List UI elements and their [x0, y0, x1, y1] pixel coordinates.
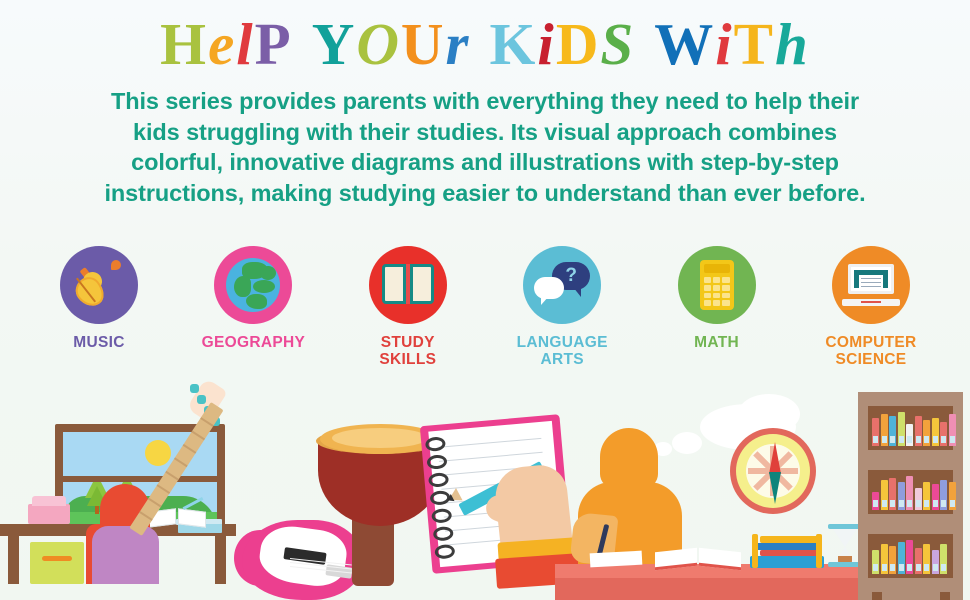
geography-circle [214, 246, 292, 324]
student-body [92, 526, 159, 584]
stacked-book [756, 543, 820, 550]
open-book-icon [382, 264, 434, 306]
calculator-icon [700, 260, 734, 310]
drawer-cabinet [30, 542, 84, 584]
pink-box [28, 504, 70, 524]
title-letter: W [654, 12, 715, 76]
compass-needle-south [769, 472, 781, 504]
title-letter: K [490, 12, 538, 76]
thought-bubble-medium [672, 432, 702, 454]
bookshelf-icon [858, 392, 963, 600]
subject-label-study-skills: STUDYSKILLS [379, 334, 436, 368]
subject-label-geography: GEOGRAPHY [202, 334, 305, 351]
subject-item-geography[interactable]: GEOGRAPHY [178, 246, 328, 351]
subject-item-music[interactable]: MUSIC [24, 246, 174, 351]
music-circle [60, 246, 138, 324]
title-letter: O [356, 12, 401, 76]
stacked-book-spine [816, 534, 822, 568]
stacked-book-spine [752, 534, 758, 568]
title-letter: D [556, 12, 601, 76]
math-circle [678, 246, 756, 324]
laptop-icon [842, 264, 900, 306]
subject-item-computer-science[interactable]: COMPUTERSCIENCE [796, 246, 946, 368]
shelf-books-row [872, 476, 956, 510]
stacked-book [750, 556, 824, 568]
hourglass-base [828, 562, 862, 567]
title-letter: i [715, 12, 733, 76]
title-letter: U [401, 12, 446, 76]
page-title: HelPYOUrKiDSWiTh [0, 12, 970, 76]
subject-label-language-arts: LANGUAGEARTS [517, 334, 608, 368]
violin-icon [73, 259, 125, 311]
reader-head [600, 428, 658, 488]
title-letter: P [255, 12, 293, 76]
description-paragraph: This series provides parents with everyt… [85, 86, 885, 208]
open-book-on-right-desk [655, 550, 741, 568]
computer-science-circle [832, 246, 910, 324]
language-arts-circle: ? [523, 246, 601, 324]
bookshelf-leg [940, 592, 950, 600]
subject-label-math: MATH [694, 334, 739, 351]
subject-item-study-skills[interactable]: STUDYSKILLS [333, 246, 483, 368]
subject-label-computer-science: COMPUTERSCIENCE [825, 334, 916, 368]
drawer-handle [42, 556, 72, 561]
title-letter: S [600, 12, 635, 76]
hourglass-icon [828, 524, 862, 529]
title-letter: i [537, 12, 555, 76]
banner-root: HelPYOUrKiDSWiTh This series provides pa… [0, 0, 970, 600]
bookshelf-leg [872, 592, 882, 600]
stacked-book [760, 536, 818, 543]
subject-label-music: MUSIC [73, 334, 124, 351]
globe-icon [226, 258, 280, 312]
title-letter: h [775, 12, 810, 76]
pink-box-lid [32, 496, 66, 506]
djembe-skin [332, 428, 428, 448]
title-letter: H [160, 12, 208, 76]
sun-icon [145, 440, 171, 466]
subject-item-language-arts[interactable]: ? LANGUAGEARTS [487, 246, 637, 368]
subject-item-math[interactable]: MATH [642, 246, 792, 351]
djembe-base [352, 518, 394, 586]
subject-list: MUSIC GEOGRAPHY STUDYSKILLS ? [24, 246, 946, 381]
right-desk-front [555, 578, 885, 600]
title-letter: Y [312, 12, 357, 76]
study-skills-circle [369, 246, 447, 324]
shelf-books-row [872, 412, 956, 446]
title-letter: r [446, 12, 471, 76]
left-desk-leg [8, 536, 19, 584]
shelf-books-row [872, 540, 947, 574]
title-letter: e [208, 12, 236, 76]
paper-sheet [590, 551, 643, 568]
illustration-scene [0, 384, 970, 600]
hourglass-upper-bulb [833, 529, 857, 547]
compass-needle-north [769, 442, 781, 474]
speech-bubble-icon: ? [534, 262, 590, 308]
title-letter: l [236, 12, 254, 76]
title-letter: T [734, 12, 775, 76]
